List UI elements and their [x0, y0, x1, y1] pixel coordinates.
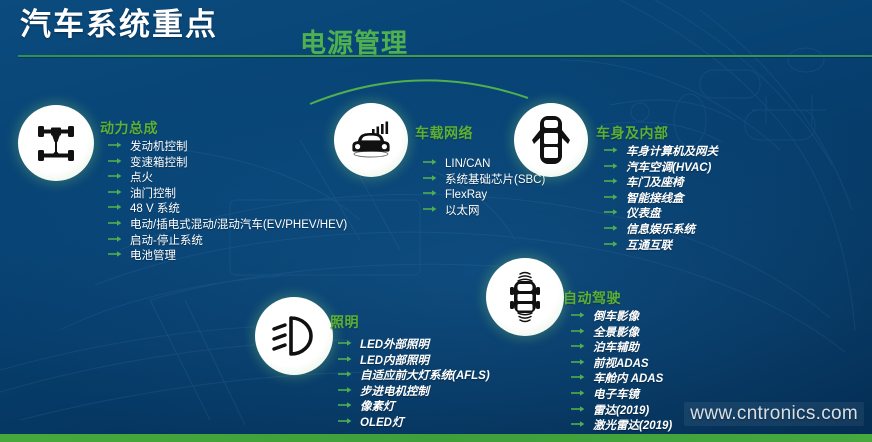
- list-item-label: 48 V 系统: [130, 202, 180, 218]
- arrow-icon: [604, 240, 620, 248]
- cluster-autonomous-driving: 自动驾驶 倒车影像 全景影像 泊车辅助 前视ADAS 车舱内 ADAS 电子车镜…: [563, 288, 672, 435]
- list-item-label: LIN/CAN: [445, 157, 490, 173]
- arrow-icon: [423, 189, 439, 197]
- list-item: 全景影像: [571, 326, 672, 342]
- list-item: FlexRay: [423, 188, 545, 204]
- list-item-label: 车舱内 ADAS: [593, 372, 663, 388]
- list-item: 变速箱控制: [108, 156, 347, 172]
- headlight-icon: [269, 315, 319, 357]
- list-item-label: 智能接线盒: [626, 192, 684, 208]
- list-item: 电动/插电式混动/混动汽车(EV/PHEV/HEV): [108, 218, 347, 234]
- list-item-label: 步进电机控制: [360, 385, 429, 401]
- arrow-icon: [604, 177, 620, 185]
- car-radar-sensing-icon: [502, 269, 548, 325]
- list-item: 雷达(2019): [571, 404, 672, 420]
- list-item: 倒车影像: [571, 310, 672, 326]
- arrow-icon: [108, 141, 124, 149]
- arrow-icon: [571, 389, 587, 397]
- list-item-label: 泊车辅助: [593, 341, 639, 357]
- page-title-wrap: 汽车系统重点: [20, 6, 218, 45]
- list-item: 前视ADAS: [571, 357, 672, 373]
- arrow-icon: [338, 339, 354, 347]
- list-item: 激光雷达(2019): [571, 419, 672, 435]
- arrow-icon: [571, 311, 587, 319]
- arrow-icon: [108, 250, 124, 258]
- list-item: 点火: [108, 171, 347, 187]
- list-item-label: 汽车空调(HVAC): [626, 161, 711, 177]
- list-item-label: 系统基础芯片(SBC): [445, 173, 545, 189]
- arrow-icon: [338, 355, 354, 363]
- list-item: 启动-停止系统: [108, 234, 347, 250]
- list-item-label: 车身计算机及网关: [626, 145, 718, 161]
- chassis-drivetrain-icon: [33, 120, 79, 166]
- arrow-icon: [571, 405, 587, 413]
- list-item-label: LED内部照明: [360, 354, 429, 370]
- arrow-icon: [604, 208, 620, 216]
- list-item: 油门控制: [108, 187, 347, 203]
- list-item-label: FlexRay: [445, 188, 487, 204]
- list-item: 泊车辅助: [571, 341, 672, 357]
- list-item: 电子车镜: [571, 388, 672, 404]
- badge-powertrain: [18, 105, 94, 181]
- arch-header-text: 电源管理: [300, 28, 408, 58]
- cluster-heading-powertrain: 动力总成: [100, 118, 347, 138]
- list-item: 以太网: [423, 204, 545, 220]
- badge-body-interior: [514, 103, 588, 177]
- list-item-label: 点火: [130, 171, 153, 187]
- cluster-body-interior: 车身及内部 车身计算机及网关 汽车空调(HVAC) 车门及座椅 智能接线盒 仪表…: [596, 123, 718, 254]
- list-item: LED内部照明: [338, 354, 490, 370]
- list-item: 车舱内 ADAS: [571, 372, 672, 388]
- list-item-label: 互通互联: [626, 239, 672, 255]
- list-item-label: 像素灯: [360, 400, 395, 416]
- list-item: 信息娱乐系统: [604, 223, 718, 239]
- list-item-label: 以太网: [445, 204, 480, 220]
- arrow-icon: [604, 193, 620, 201]
- list-item: 电池管理: [108, 249, 347, 265]
- list-item-label: 电动/插电式混动/混动汽车(EV/PHEV/HEV): [130, 218, 347, 234]
- car-front-signal-icon: [347, 120, 395, 160]
- list-item: OLED灯: [338, 416, 490, 432]
- arrow-icon: [338, 417, 354, 425]
- list-item: 互通互联: [604, 239, 718, 255]
- arrow-icon: [338, 401, 354, 409]
- arrow-icon: [604, 162, 620, 170]
- arrow-icon: [423, 174, 439, 182]
- list-item-label: 仪表盘: [626, 207, 661, 223]
- list-item-label: 前视ADAS: [593, 357, 649, 373]
- list-item: 仪表盘: [604, 207, 718, 223]
- list-item-label: 激光雷达(2019): [593, 419, 672, 435]
- list-body-interior: 车身计算机及网关 汽车空调(HVAC) 车门及座椅 智能接线盒 仪表盘 信息娱乐…: [604, 145, 718, 254]
- badge-lighting: [255, 297, 333, 375]
- arrow-icon: [423, 158, 439, 166]
- list-item: 系统基础芯片(SBC): [423, 173, 545, 189]
- arrow-icon: [423, 205, 439, 213]
- list-powertrain: 发动机控制 变速箱控制 点火 油门控制 48 V 系统 电动/插电式混动/混动汽…: [108, 140, 347, 265]
- list-item: 48 V 系统: [108, 202, 347, 218]
- arrow-icon: [604, 146, 620, 154]
- arrow-icon: [604, 224, 620, 232]
- list-item-label: 油门控制: [130, 187, 176, 203]
- arrow-icon: [571, 342, 587, 350]
- list-item-label: LED外部照明: [360, 338, 429, 354]
- arch-header: 电源管理: [300, 52, 530, 102]
- arrow-icon: [108, 219, 124, 227]
- car-topview-doors-icon: [530, 114, 572, 166]
- list-item-label: 全景影像: [593, 326, 639, 342]
- arrow-icon: [108, 157, 124, 165]
- list-item-label: 倒车影像: [593, 310, 639, 326]
- list-item-label: 发动机控制: [130, 140, 188, 156]
- page-title: 汽车系统重点: [20, 6, 218, 45]
- list-item-label: 变速箱控制: [130, 156, 188, 172]
- cluster-heading-body-interior: 车身及内部: [596, 123, 718, 143]
- arrow-icon: [338, 386, 354, 394]
- watermark: www.cntronics.com: [684, 402, 864, 426]
- badge-vehicle-network: [334, 103, 408, 177]
- list-item-label: OLED灯: [360, 416, 403, 432]
- list-item: 步进电机控制: [338, 385, 490, 401]
- slide-canvas: 汽车系统重点 电源管理 动力总成: [0, 0, 872, 442]
- list-item: LED外部照明: [338, 338, 490, 354]
- list-autonomous-driving: 倒车影像 全景影像 泊车辅助 前视ADAS 车舱内 ADAS 电子车镜 雷达(2…: [571, 310, 672, 435]
- list-item-label: 雷达(2019): [593, 404, 649, 420]
- list-item: 智能接线盒: [604, 192, 718, 208]
- list-item-label: 电子车镜: [593, 388, 639, 404]
- cluster-powertrain: 动力总成 发动机控制 变速箱控制 点火 油门控制 48 V 系统 电动/插电式混…: [100, 118, 347, 265]
- arrow-icon: [108, 203, 124, 211]
- list-item-label: 电池管理: [130, 249, 176, 265]
- list-item: 车身计算机及网关: [604, 145, 718, 161]
- list-item: 车门及座椅: [604, 176, 718, 192]
- cluster-lighting: 照明 LED外部照明 LED内部照明 自适应前大灯系统(AFLS) 步进电机控制…: [330, 312, 490, 432]
- list-item: 自适应前大灯系统(AFLS): [338, 369, 490, 385]
- cluster-heading-lighting: 照明: [330, 312, 490, 332]
- cluster-heading-autonomous-driving: 自动驾驶: [563, 288, 672, 308]
- arrow-icon: [571, 327, 587, 335]
- arrow-icon: [108, 188, 124, 196]
- arrow-icon: [571, 373, 587, 381]
- badge-autonomous-driving: [486, 258, 564, 336]
- arrow-icon: [108, 235, 124, 243]
- list-item: 像素灯: [338, 400, 490, 416]
- arrow-icon: [338, 370, 354, 378]
- list-item: 汽车空调(HVAC): [604, 161, 718, 177]
- list-item-label: 自适应前大灯系统(AFLS): [360, 369, 490, 385]
- arrow-icon: [571, 420, 587, 428]
- bottom-accent-bar: [0, 434, 872, 442]
- list-lighting: LED外部照明 LED内部照明 自适应前大灯系统(AFLS) 步进电机控制 像素…: [338, 338, 490, 432]
- list-item-label: 信息娱乐系统: [626, 223, 695, 239]
- arrow-icon: [108, 172, 124, 180]
- list-item-label: 车门及座椅: [626, 176, 684, 192]
- list-item-label: 启动-停止系统: [130, 234, 203, 250]
- list-item: 发动机控制: [108, 140, 347, 156]
- arrow-icon: [571, 358, 587, 366]
